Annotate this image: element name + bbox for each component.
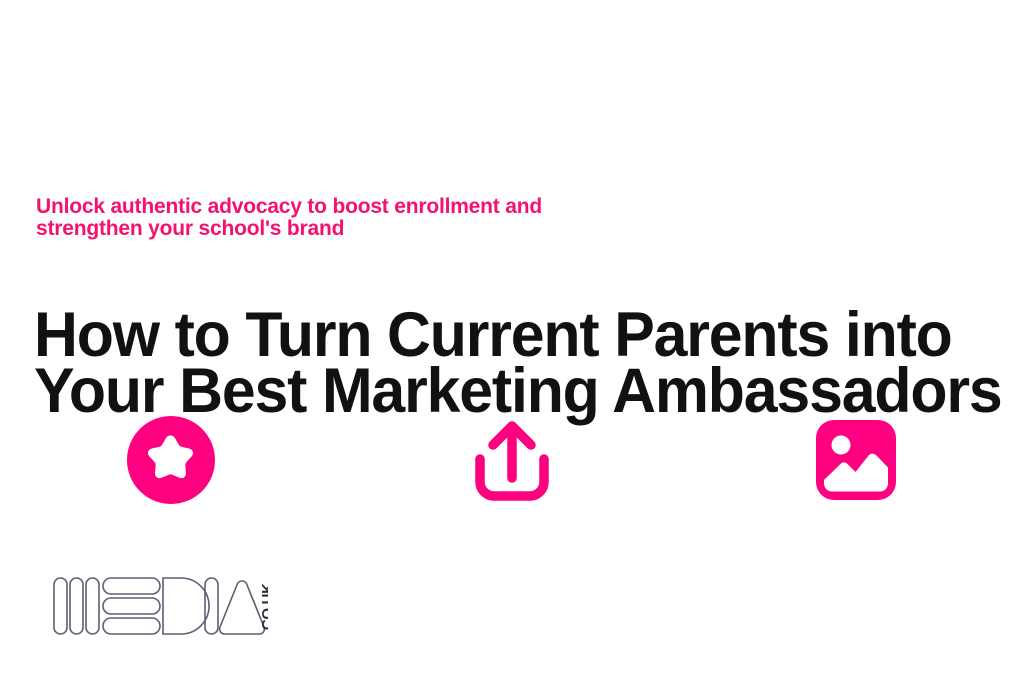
eyebrow-line-2: strengthen your school's brand [36, 218, 716, 240]
eyebrow-subtitle: Unlock authentic advocacy to boost enrol… [36, 196, 716, 241]
logo-media-co-uk: .CO.UK [53, 575, 268, 637]
star-badge-icon [116, 405, 226, 515]
eyebrow-line-1: Unlock authentic advocacy to boost enrol… [36, 196, 716, 218]
image-photo-icon [801, 405, 911, 515]
icon-row [0, 405, 1024, 515]
page-title: How to Turn Current Parents into Your Be… [34, 308, 960, 419]
title-card: Unlock authentic advocacy to boost enrol… [0, 0, 1024, 683]
share-upload-icon [457, 405, 567, 515]
logo-suffix-text: .CO.UK [259, 583, 268, 634]
